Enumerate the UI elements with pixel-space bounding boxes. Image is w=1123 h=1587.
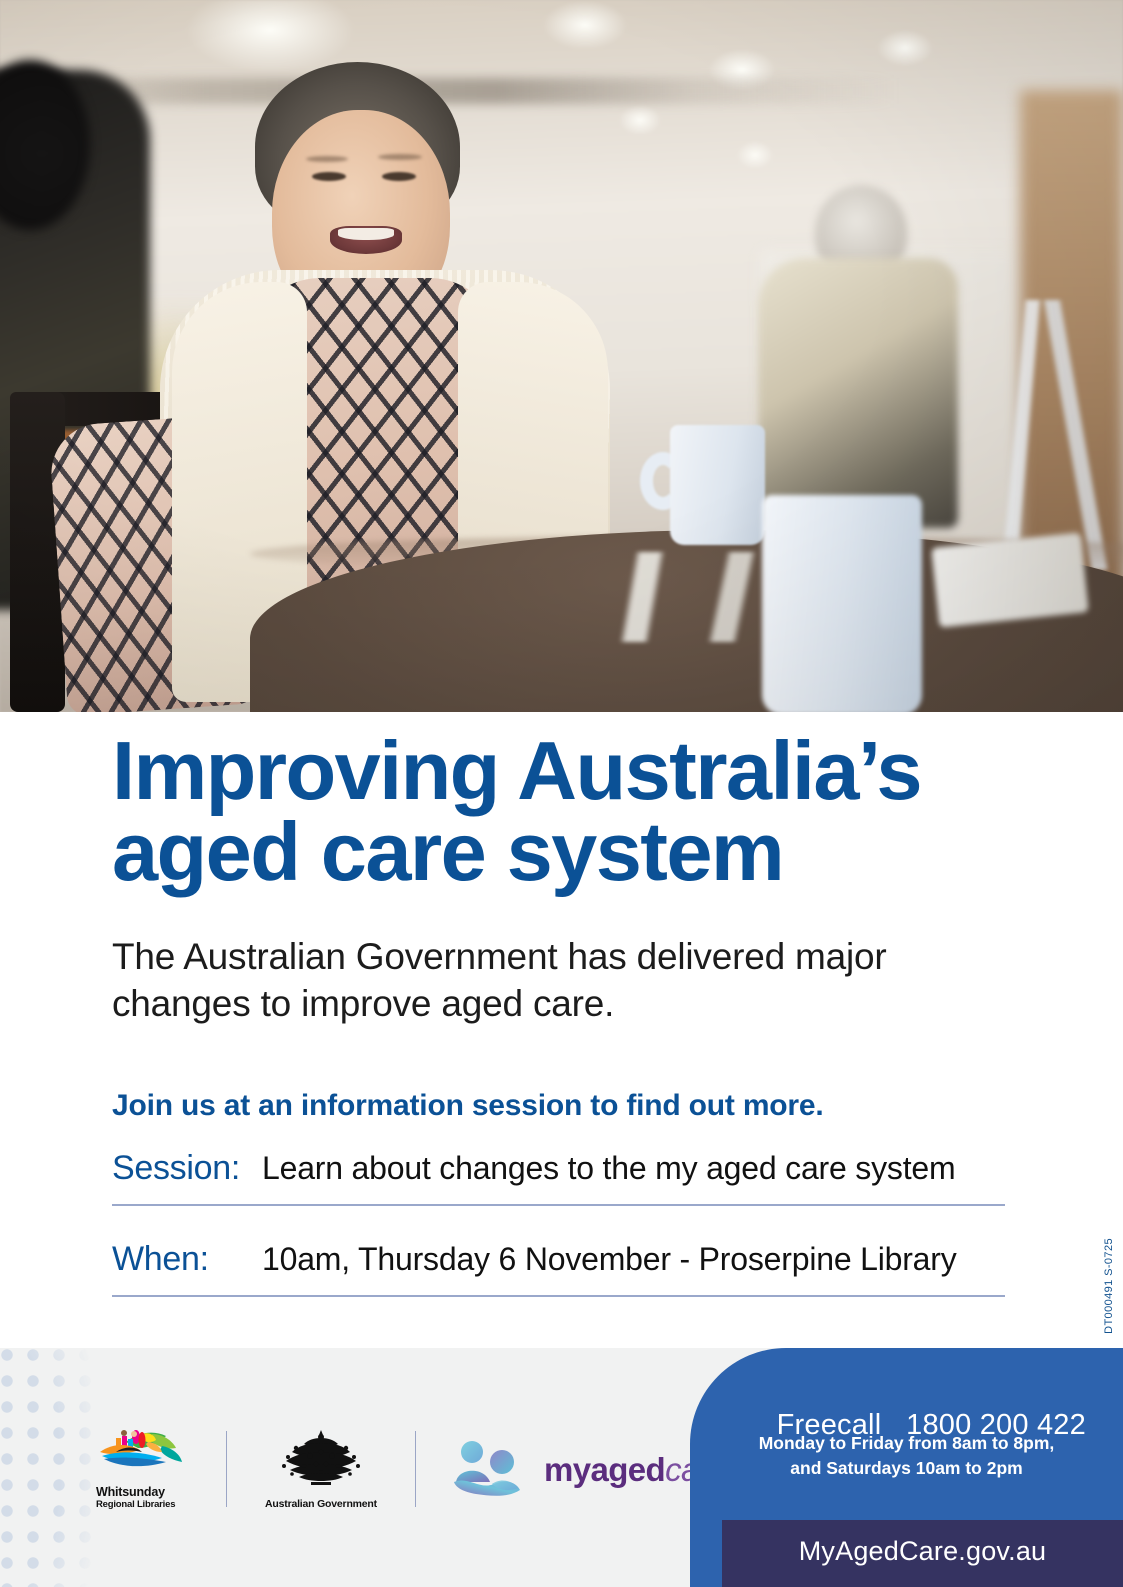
whitsunday-mark-icon xyxy=(96,1428,192,1480)
whitsunday-regional-libraries-logo: Whitsunday Regional Libraries xyxy=(96,1428,192,1510)
logo-divider-1 xyxy=(226,1431,227,1507)
detail-row-session: Session: Learn about changes to the my a… xyxy=(112,1149,1005,1206)
logo-strip: Whitsunday Regional Libraries xyxy=(96,1414,727,1524)
myagedcare-people-icon xyxy=(450,1438,530,1500)
hero-photo xyxy=(0,0,1123,712)
page-title: Improving Australia’s aged care system xyxy=(112,730,1011,893)
session-label: Session: xyxy=(112,1149,262,1188)
document-code: DT000491 S-0725 xyxy=(1103,1238,1115,1334)
opening-hours: Monday to Friday from 8am to 8pm, and Sa… xyxy=(690,1431,1123,1481)
whitsunday-logo-line2: Regional Libraries xyxy=(96,1499,192,1510)
australian-government-caption: Australian Government xyxy=(261,1498,381,1510)
commonwealth-coat-of-arms-icon xyxy=(266,1428,376,1490)
australian-government-logo: Australian Government xyxy=(261,1428,381,1510)
myagedcare-wordmark-bold: myaged xyxy=(544,1451,665,1488)
detail-row-when: When: 10am, Thursday 6 November - Proser… xyxy=(112,1240,1005,1297)
logo-divider-2 xyxy=(415,1431,416,1507)
website-url[interactable]: MyAgedCare.gov.au xyxy=(722,1536,1123,1567)
poster: Improving Australia’s aged care system T… xyxy=(0,0,1123,1587)
session-value: Learn about changes to the my aged care … xyxy=(262,1150,955,1187)
hero-vignette xyxy=(0,0,1123,712)
join-invitation: Join us at an information session to fin… xyxy=(112,1089,1011,1123)
whitsunday-logo-line1: Whitsunday xyxy=(96,1485,192,1499)
when-value: 10am, Thursday 6 November - Proserpine L… xyxy=(262,1241,957,1278)
poster-content: Improving Australia’s aged care system T… xyxy=(0,712,1123,1297)
lede-paragraph: The Australian Government has delivered … xyxy=(112,933,942,1028)
when-label: When: xyxy=(112,1240,262,1279)
myagedcare-logo: myagedcare xyxy=(450,1438,727,1500)
poster-footer: Whitsunday Regional Libraries xyxy=(0,1348,1123,1587)
